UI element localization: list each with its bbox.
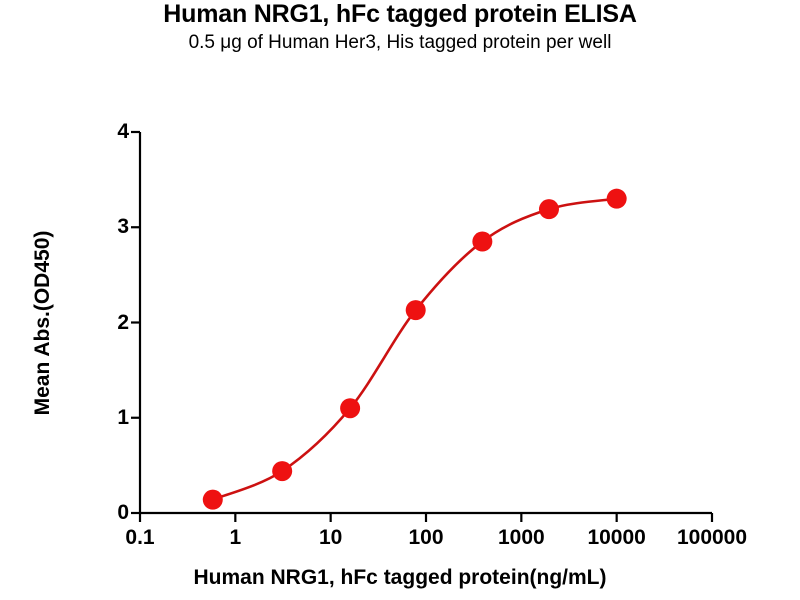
y-axis-tick-label: 1 xyxy=(99,406,129,430)
axes-group xyxy=(140,132,712,513)
fit-curve xyxy=(213,199,617,500)
y-axis-tick-label: 0 xyxy=(99,501,129,525)
y-ticks-group xyxy=(131,132,140,513)
x-ticks-group xyxy=(140,513,712,522)
data-point-marker xyxy=(607,189,627,209)
x-axis-tick-label: 0.1 xyxy=(125,526,154,550)
y-axis-tick-label: 4 xyxy=(99,120,129,144)
y-axis-tick-label: 2 xyxy=(99,311,129,335)
x-axis-tick-label: 100000 xyxy=(677,526,747,550)
data-point-marker xyxy=(472,232,492,252)
data-point-marker xyxy=(539,199,559,219)
data-point-marker xyxy=(340,398,360,418)
elisa-chart-figure: Human NRG1, hFc tagged protein ELISA 0.5… xyxy=(0,0,800,600)
data-point-marker xyxy=(406,300,426,320)
x-axis-tick-label: 1 xyxy=(229,526,241,550)
data-points-group xyxy=(203,189,627,510)
x-axis-tick-label: 100 xyxy=(408,526,443,550)
data-point-marker xyxy=(203,490,223,510)
data-point-marker xyxy=(272,461,292,481)
x-axis-tick-label: 1000 xyxy=(498,526,545,550)
x-axis-tick-label: 10000 xyxy=(587,526,645,550)
x-axis-tick-label: 10 xyxy=(319,526,342,550)
y-axis-tick-label: 3 xyxy=(99,215,129,239)
